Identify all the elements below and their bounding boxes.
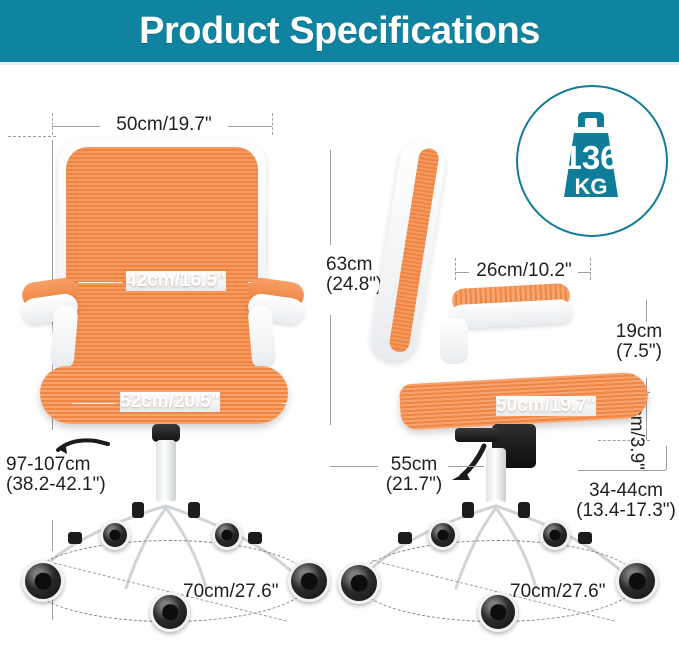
side-base-depth-cm: 55cm bbox=[378, 455, 450, 475]
weight-value: 136 bbox=[536, 139, 646, 177]
side-backrest-height-in: (24.8") bbox=[326, 275, 382, 295]
side-caster-right bbox=[616, 560, 658, 602]
side-backrest-depth-label: 26cm/10.2" bbox=[462, 261, 586, 281]
front-height-lever bbox=[56, 436, 116, 458]
side-back-height-line-bottom bbox=[330, 315, 331, 425]
side-backrest-height-label: 63cm (24.8") bbox=[326, 255, 382, 295]
front-base-diameter-label: 70cm/27.6" bbox=[183, 582, 278, 602]
front-seat-line-left bbox=[72, 403, 116, 404]
header-banner: Product Specifications bbox=[0, 0, 679, 62]
front-caster-left bbox=[22, 560, 64, 602]
header-divider bbox=[0, 62, 679, 65]
side-base-depth-line-left bbox=[330, 466, 378, 467]
front-inner-line-left bbox=[78, 282, 122, 283]
front-caster-right bbox=[288, 560, 330, 602]
front-backrest-width-inner-label: 42cm/16.5" bbox=[126, 271, 226, 291]
side-caster-center bbox=[478, 592, 518, 632]
side-depth-ext-right bbox=[590, 258, 591, 280]
side-back-height-line-top bbox=[330, 150, 331, 245]
front-backrest-width-outer-label: 50cm/19.7" bbox=[88, 115, 240, 135]
side-seat-depth-label: 50cm/19.7" bbox=[496, 396, 596, 416]
front-height-ext-top bbox=[8, 136, 56, 137]
side-seat-height-line bbox=[578, 470, 666, 471]
side-seat-to-armrest-cm: 19cm bbox=[600, 322, 678, 342]
side-base-diameter-label: 70cm/27.6" bbox=[510, 582, 605, 602]
side-caster-back-left bbox=[428, 520, 458, 550]
product-specification-diagram: Product Specifications 136 KG 50cm/19.7"… bbox=[0, 0, 679, 656]
side-19cm-line-top bbox=[646, 300, 647, 322]
front-width-ext-right bbox=[272, 113, 273, 135]
front-seat-line-right bbox=[282, 403, 288, 404]
side-depth-ext-left bbox=[455, 258, 456, 280]
side-backrest-height-cm: 63cm bbox=[326, 255, 382, 275]
page-title: Product Specifications bbox=[139, 10, 540, 53]
side-seat-to-armrest-label: 19cm (7.5") bbox=[600, 322, 678, 362]
front-caster-center bbox=[150, 592, 190, 632]
side-seat-height-tick bbox=[666, 446, 667, 470]
front-caster-back-left bbox=[100, 520, 130, 550]
side-caster-left bbox=[338, 562, 380, 604]
front-caster-back-right bbox=[212, 520, 242, 550]
weight-unit: KG bbox=[536, 174, 646, 200]
front-width-ext-left bbox=[52, 113, 53, 135]
side-armrest-post bbox=[440, 318, 468, 364]
side-armrest bbox=[449, 299, 572, 329]
side-base-depth-line-right bbox=[448, 466, 484, 467]
side-seat-to-armrest-in: (7.5") bbox=[600, 342, 678, 362]
side-caster-back-right bbox=[540, 520, 570, 550]
front-seat-width-label: 52cm/20.5" bbox=[120, 392, 220, 412]
